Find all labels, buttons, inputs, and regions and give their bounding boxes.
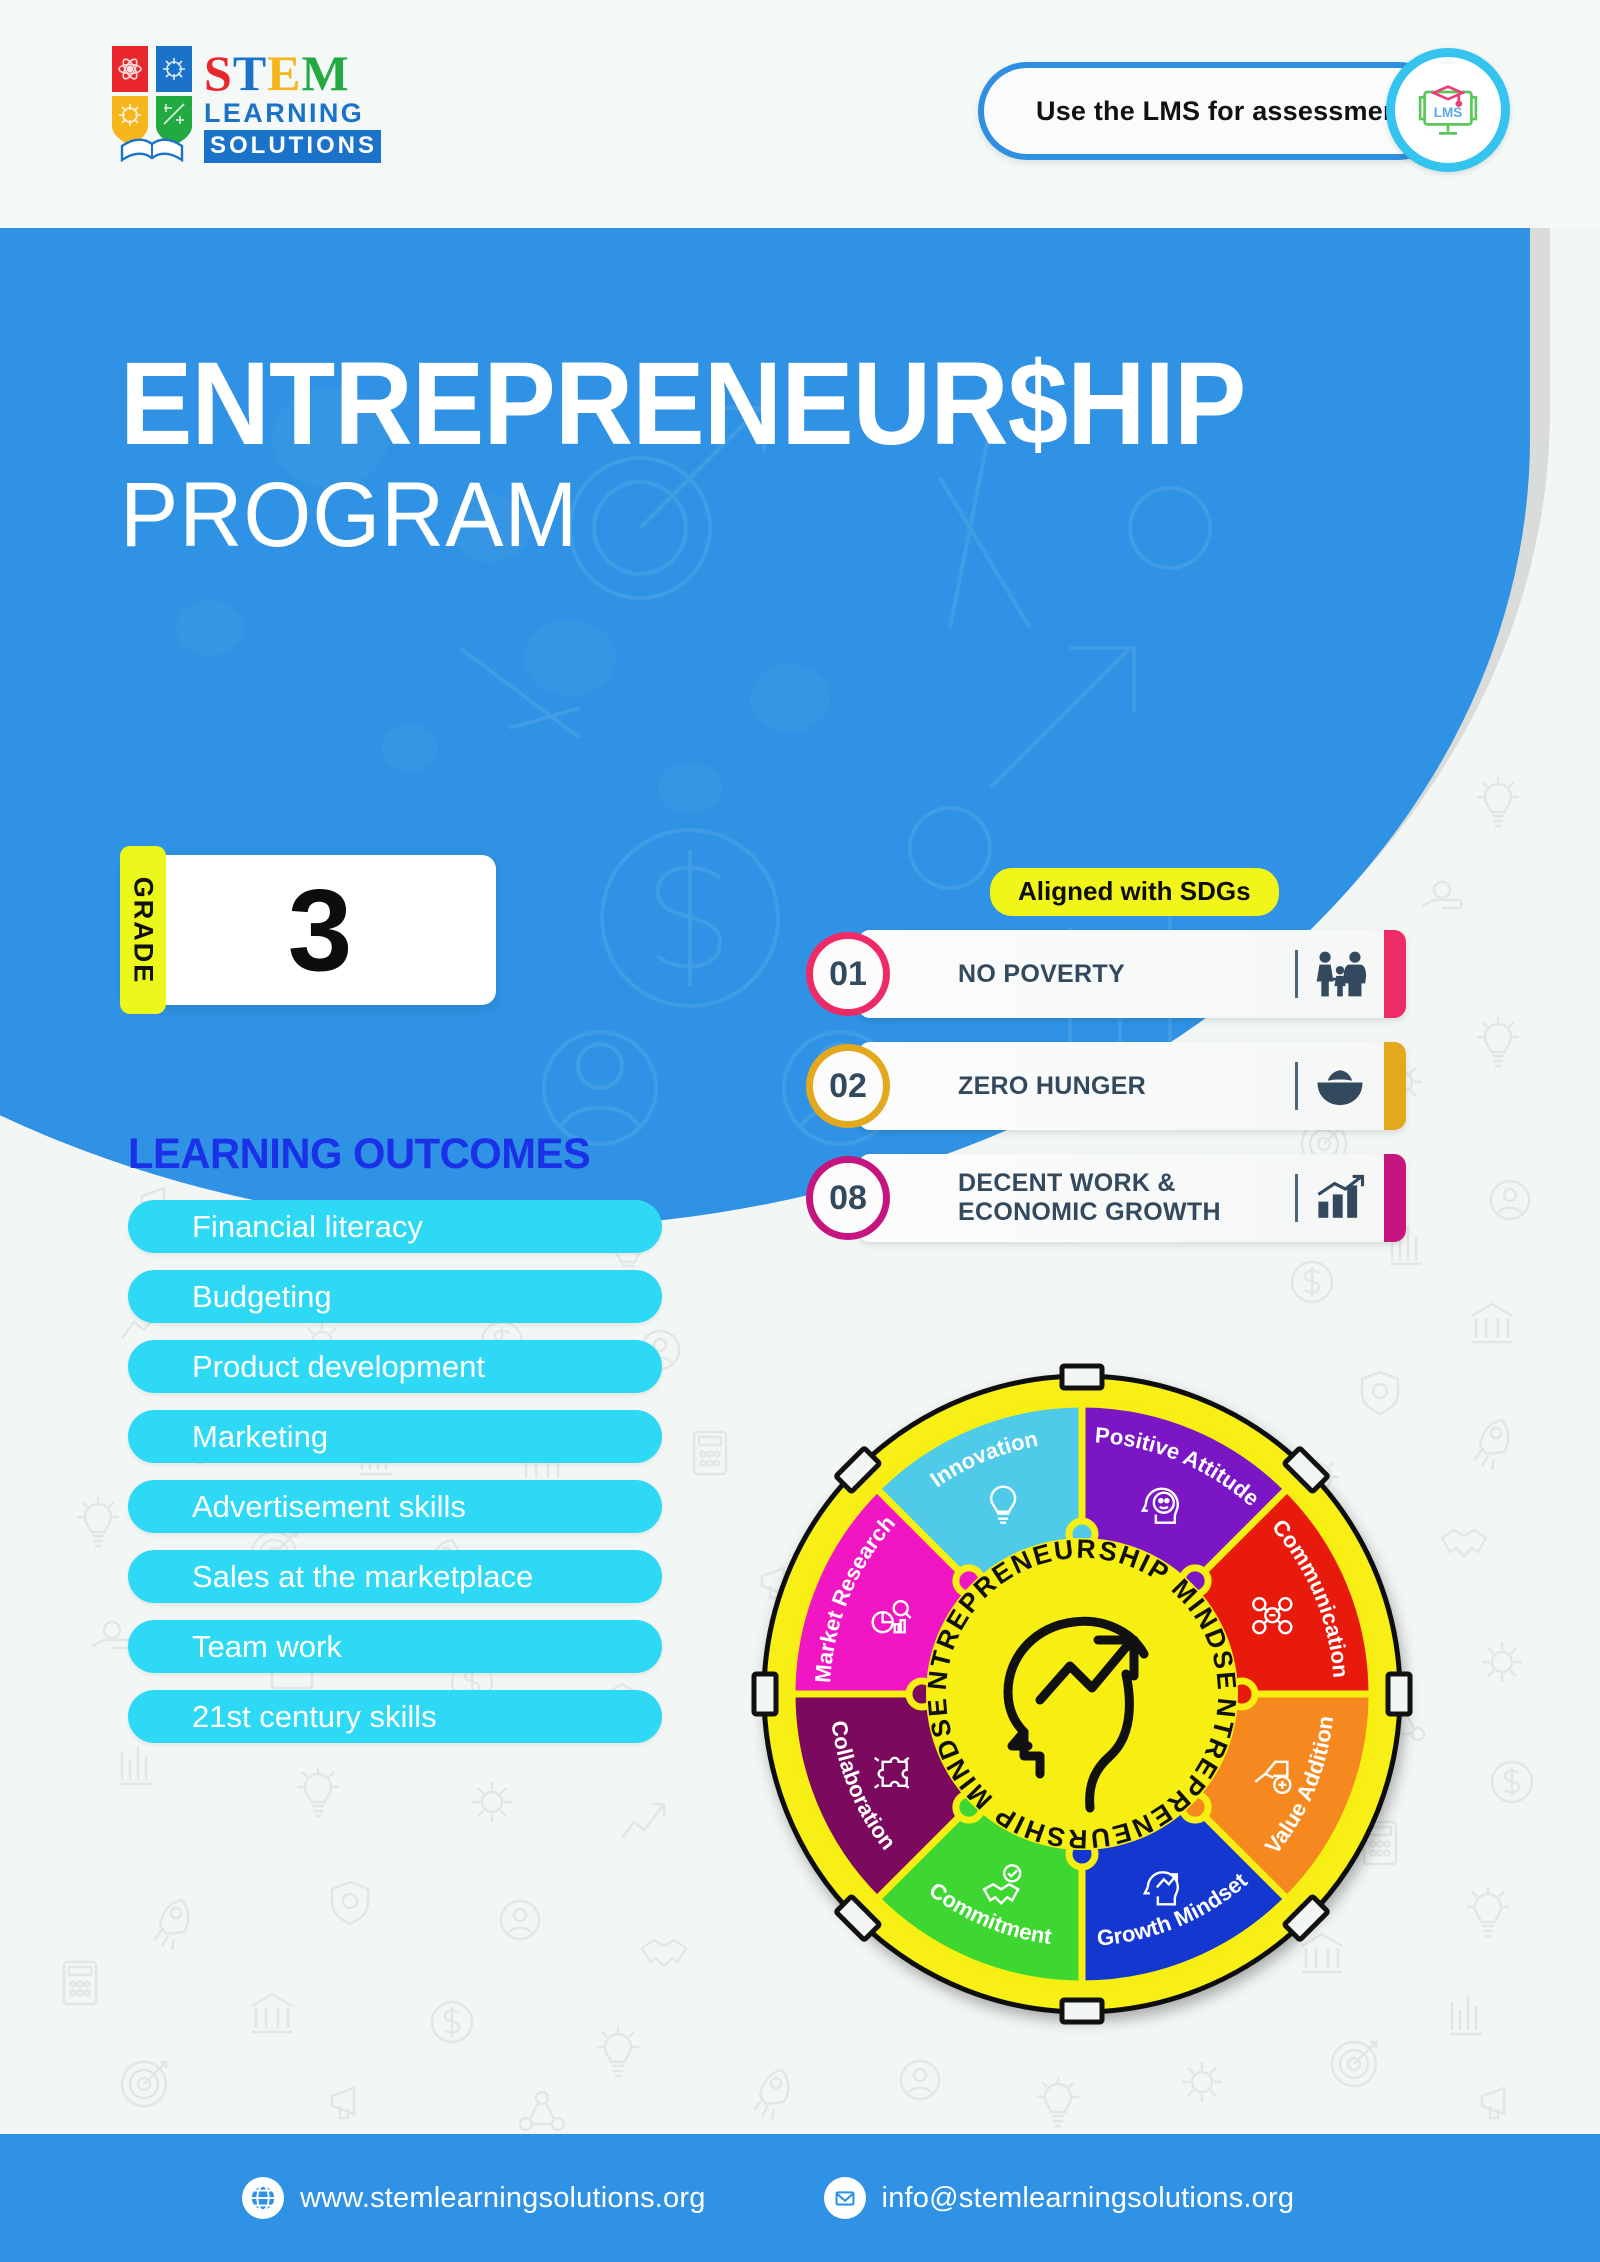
- learning-outcome-item: Financial literacy: [128, 1200, 662, 1253]
- family-people-icon: [1312, 948, 1368, 1000]
- sdg-bar: DECENT WORK & ECONOMIC GROWTH: [858, 1154, 1406, 1242]
- sdg-list: NO POVERTY 01: [806, 930, 1406, 1266]
- sdg-accent-bar: [1384, 930, 1406, 1018]
- entrepreneurship-mindset-wheel: ENTREPRENEURSHIP MINDSET ENTREPRENEURSHI…: [722, 1322, 1442, 2062]
- learning-outcome-item: Team work: [128, 1620, 662, 1673]
- sdg-label: NO POVERTY: [958, 960, 1125, 989]
- envelope-icon: [824, 2177, 866, 2219]
- sdg-row: DECENT WORK & ECONOMIC GROWTH 08: [806, 1154, 1406, 1242]
- learning-outcomes-list: Financial literacy Budgeting Product dev…: [128, 1200, 662, 1760]
- sdg-label: DECENT WORK & ECONOMIC GROWTH: [958, 1169, 1221, 1227]
- sdg-bar: ZERO HUNGER: [858, 1042, 1406, 1130]
- footer-website[interactable]: www.stemlearningsolutions.org: [242, 2177, 706, 2219]
- sdg-number-badge: 08: [806, 1156, 890, 1240]
- sdg-divider: [1295, 1062, 1298, 1110]
- stem-shield-icon: [108, 42, 196, 167]
- sdg-number-badge: 02: [806, 1044, 890, 1128]
- grade-card: 3 GRADE: [124, 855, 496, 1005]
- footer-email-text: info@stemlearningsolutions.org: [882, 2182, 1295, 2215]
- header-bar: STEM LEARNING SOLUTIONS Use the LMS for …: [0, 0, 1600, 228]
- sdg-label: ZERO HUNGER: [958, 1072, 1146, 1101]
- brand-logo: STEM LEARNING SOLUTIONS: [108, 42, 418, 177]
- brand-wordmark: STEM LEARNING SOLUTIONS: [204, 48, 416, 163]
- poster-canvas: ENTREPRENEUR$HIP PROGRAM: [0, 0, 1600, 2262]
- sdg-accent-bar: [1384, 1154, 1406, 1242]
- logo-solutions-text: SOLUTIONS: [204, 130, 381, 163]
- lms-badge-text: LMS: [1434, 105, 1463, 120]
- lms-badge[interactable]: LMS: [1386, 48, 1510, 172]
- logo-stem-text: STEM: [204, 48, 416, 98]
- footer-email[interactable]: info@stemlearningsolutions.org: [824, 2177, 1295, 2219]
- hero-title-block: ENTREPRENEUR$HIP PROGRAM: [120, 348, 1343, 564]
- footer-bar: www.stemlearningsolutions.org info@steml…: [0, 2134, 1600, 2262]
- learning-outcome-item: Advertisement skills: [128, 1480, 662, 1533]
- logo-letter-e: E: [267, 45, 301, 101]
- logo-letter-t: T: [233, 45, 267, 101]
- grade-label: GRADE: [128, 876, 159, 984]
- learning-outcome-item: Marketing: [128, 1410, 662, 1463]
- lms-assessment-label: Use the LMS for assessment: [1036, 96, 1409, 127]
- sdg-row: ZERO HUNGER 02: [806, 1042, 1406, 1130]
- grade-value: 3: [124, 855, 496, 1005]
- page-subtitle: PROGRAM: [120, 466, 1282, 564]
- logo-letter-m: M: [302, 45, 350, 101]
- sdg-bar: NO POVERTY: [858, 930, 1406, 1018]
- learning-outcome-item: Sales at the marketplace: [128, 1550, 662, 1603]
- sdg-divider: [1295, 950, 1298, 998]
- sdg-row: NO POVERTY 01: [806, 930, 1406, 1018]
- learning-outcome-item: 21st century skills: [128, 1690, 662, 1743]
- grade-strip: GRADE: [120, 846, 166, 1014]
- rice-bowl-icon: [1312, 1060, 1368, 1112]
- globe-icon: [242, 2177, 284, 2219]
- sdg-accent-bar: [1384, 1042, 1406, 1130]
- learning-outcome-item: Budgeting: [128, 1270, 662, 1323]
- logo-letter-s: S: [204, 45, 233, 101]
- footer-website-text: www.stemlearningsolutions.org: [300, 2182, 706, 2215]
- sdg-tag: Aligned with SDGs: [990, 868, 1279, 916]
- sdg-divider: [1295, 1174, 1298, 1222]
- sdg-number-badge: 01: [806, 932, 890, 1016]
- lms-monitor-graduation-cap-icon: LMS: [1412, 74, 1484, 146]
- page-title: ENTREPRENEUR$HIP: [120, 348, 1245, 460]
- bar-chart-growth-icon: [1312, 1172, 1368, 1224]
- lms-assessment-button[interactable]: Use the LMS for assessment: [978, 62, 1448, 160]
- logo-learning-text: LEARNING: [204, 98, 416, 128]
- learning-outcomes-heading: LEARNING OUTCOMES: [128, 1130, 590, 1179]
- learning-outcome-item: Product development: [128, 1340, 662, 1393]
